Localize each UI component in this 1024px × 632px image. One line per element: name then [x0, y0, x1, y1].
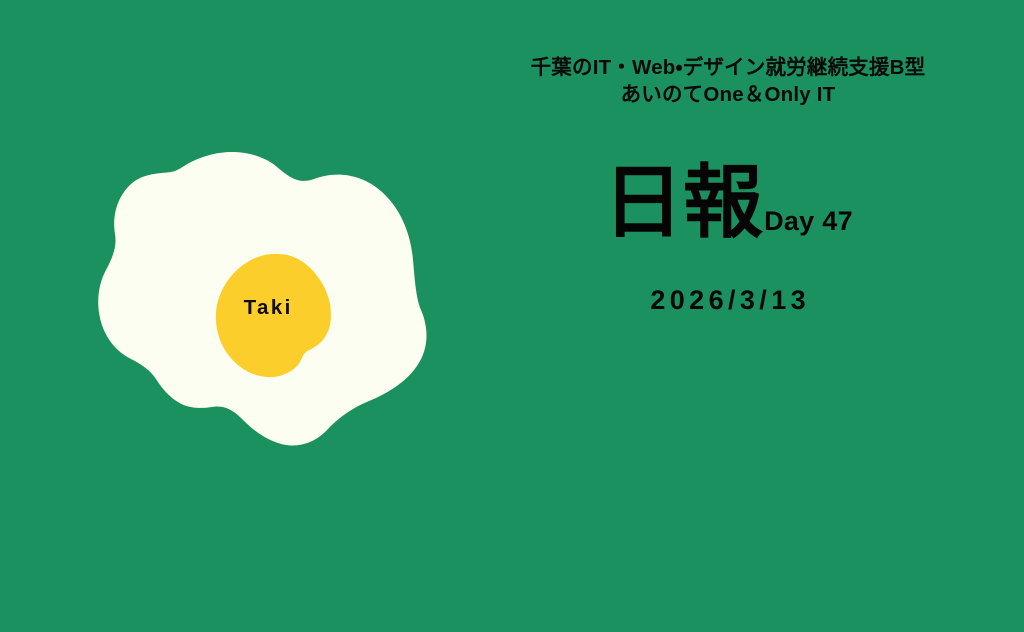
organization-heading-line-1: 千葉のIT・Web・デザイン就労継続支援B型: [432, 54, 1024, 81]
report-title-main: 日報: [603, 163, 763, 243]
report-title: 日報 Day 47: [432, 163, 1024, 243]
organization-heading: 千葉のIT・Web・デザイン就労継続支援B型 あいのてOne＆Only IT: [432, 54, 1024, 108]
text-column: 千葉のIT・Web・デザイン就労継続支援B型 あいのてOne＆Only IT 日…: [432, 0, 1024, 632]
fried-egg-logo: Taki: [95, 150, 440, 455]
report-date: 2026/3/13: [432, 285, 1024, 316]
report-day-counter: Day 47: [764, 208, 853, 235]
organization-heading-line-2: あいのてOne＆Only IT: [432, 81, 1024, 108]
slide-canvas: Taki 千葉のIT・Web・デザイン就労継続支援B型 あいのてOne＆Only…: [0, 0, 1024, 632]
